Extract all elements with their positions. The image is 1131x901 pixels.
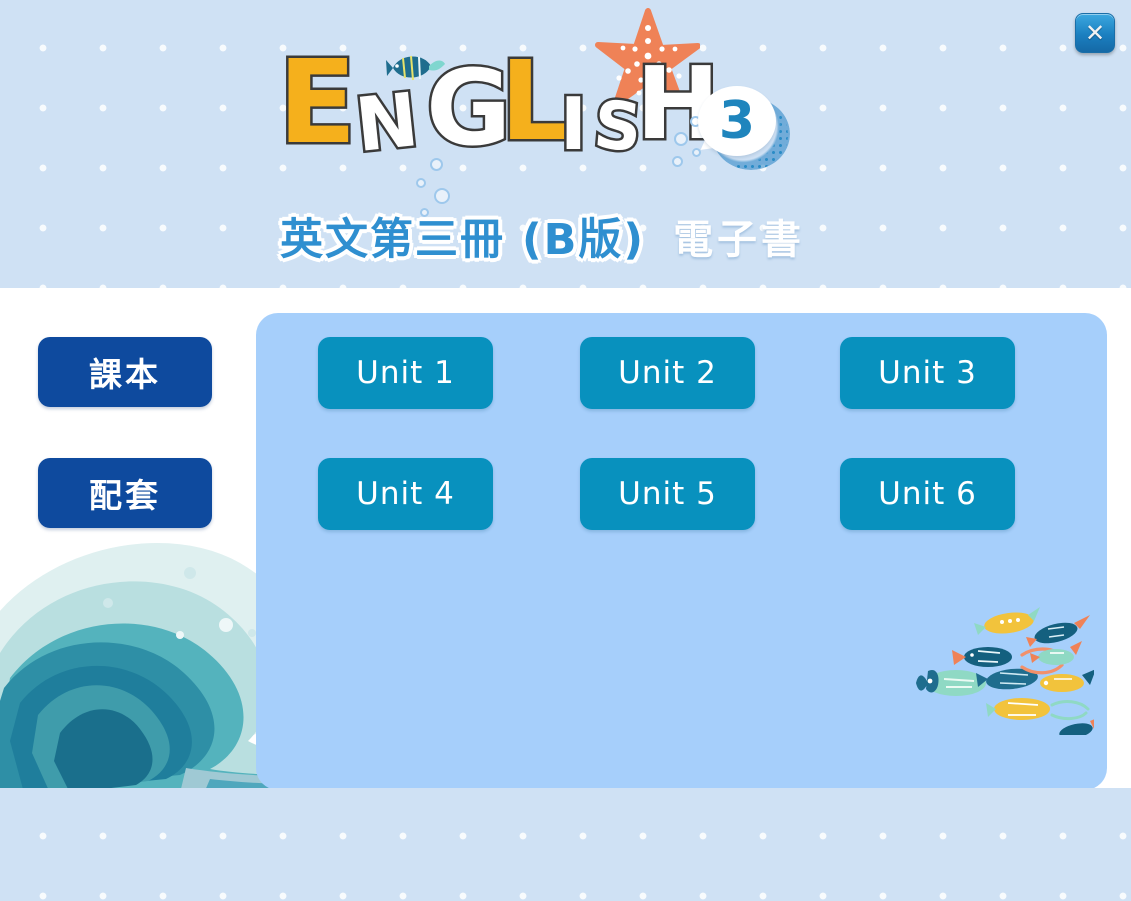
fish-school-illustration: [904, 595, 1094, 735]
unit-panel: Unit 1 Unit 2 Unit 3 Unit 4 Unit 5 Unit …: [256, 313, 1107, 788]
logo-letter-e: E: [278, 46, 357, 161]
header-banner: E N G L I S H 3: [0, 0, 1131, 288]
unit-button-4[interactable]: Unit 4: [318, 458, 493, 530]
unit-button-1[interactable]: Unit 1: [318, 337, 493, 409]
sidebar-item-supplement[interactable]: 配套: [38, 458, 212, 528]
subtitle-ebook: 電子書: [673, 207, 805, 265]
footer-dot-pattern: [0, 788, 1131, 901]
volume-badge: 3: [698, 86, 784, 164]
sidebar-item-textbook[interactable]: 課本: [38, 337, 212, 407]
unit-button-2[interactable]: Unit 2: [580, 337, 755, 409]
unit-button-5[interactable]: Unit 5: [580, 458, 755, 530]
volume-number: 3: [698, 86, 776, 156]
english-logo: E N G L I S H 3: [270, 8, 810, 278]
subtitle-row: 英文第三冊 (B版) 電子書: [280, 206, 820, 266]
unit-button-6[interactable]: Unit 6: [840, 458, 1015, 530]
logo-letter-g: G: [426, 56, 511, 160]
main-content-area: 課本 配套 Unit 1 Unit 2 Unit 3 Unit 4 Unit 5…: [0, 288, 1131, 788]
logo-letter-i: I: [560, 88, 587, 160]
footer-bar: 東大圖書公司 返回主選單: [0, 788, 1131, 901]
close-button[interactable]: ✕: [1075, 13, 1115, 53]
subtitle-chinese: 英文第三冊 (B版): [280, 205, 645, 267]
logo-letters: E N G L I S H: [278, 46, 698, 176]
unit-button-3[interactable]: Unit 3: [840, 337, 1015, 409]
logo-letter-n: N: [352, 83, 421, 163]
close-icon: ✕: [1076, 14, 1114, 52]
